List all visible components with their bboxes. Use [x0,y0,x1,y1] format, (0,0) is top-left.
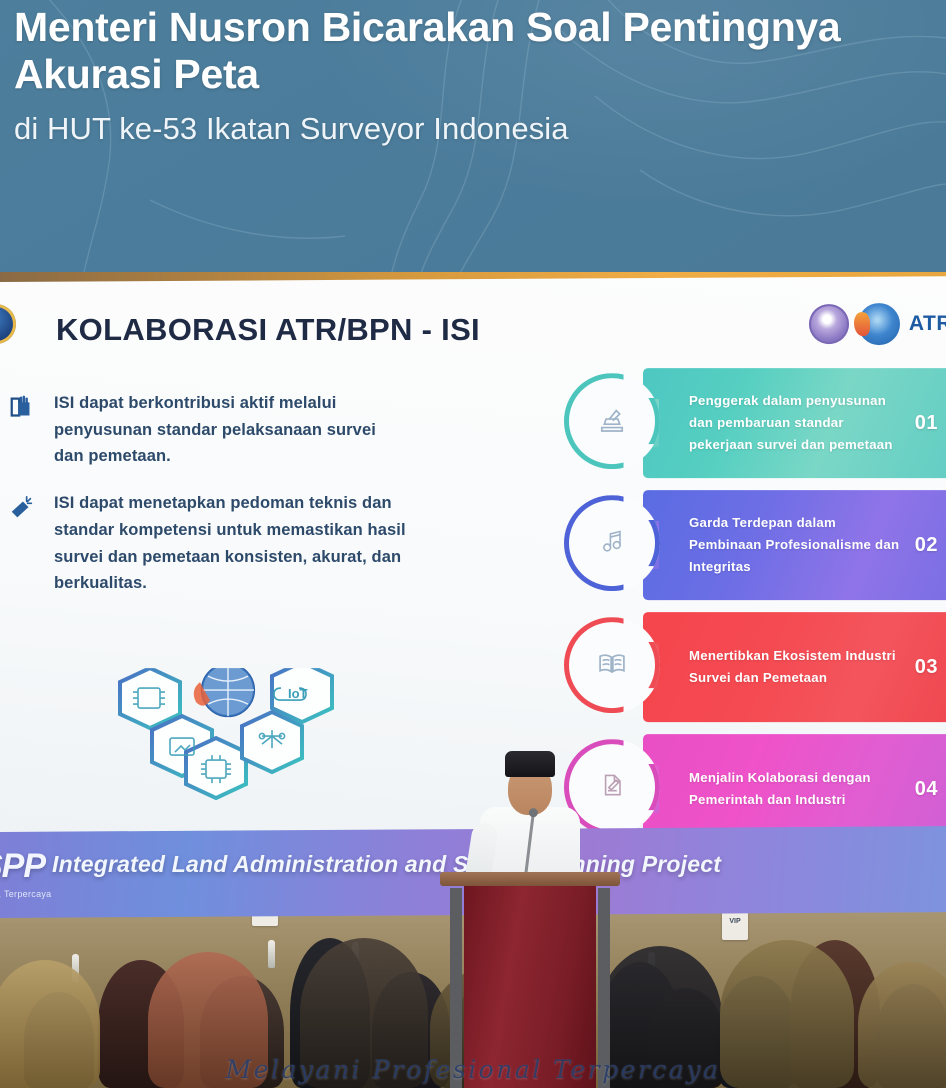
atr-wordmark: ATR [909,312,946,336]
ilaspp-logo-mark: SPP [0,847,45,886]
numbered-cards-list: Penggerak dalam penyusunan dan pembaruan… [558,368,946,856]
stamp-icon [595,402,629,441]
screenshot-root: Menteri Nusron Bicarakan Soal Pentingnya… [0,0,946,1088]
title-line-1: Menteri Nusron Bicarakan Soal Pentingnya [14,4,840,50]
bullet-text: ISI dapat berkontribusi aktif melalui pe… [54,390,408,470]
card-number-01: 01 [915,412,938,435]
bullet-item: ISI dapat berkontribusi aktif melalui pe… [8,390,408,470]
card-body-03: Menertibkan Ekosistem Industri Survei da… [643,612,946,722]
card-body-01: Penggerak dalam penyusunan dan pembaruan… [643,368,946,478]
card-row-02: Garda Terdepan dalam Pembinaan Profesion… [558,490,946,600]
slide-logo-group: ATR [809,303,946,345]
ilaspp-sub-tagline: ional, Terpercaya [0,889,51,899]
atr-bpn-globe-logo [858,303,900,345]
card-text-03: Menertibkan Ekosistem Industri Survei da… [689,645,905,689]
card-icon-ring-03 [564,617,660,713]
signed-document-icon [596,769,628,806]
open-book-icon [595,646,629,685]
card-row-03: Menertibkan Ekosistem Industri Survei da… [558,612,946,722]
event-tagline: Melayani Profesional Terpercaya [0,1055,946,1084]
article-header-banner: Menteri Nusron Bicarakan Soal Pentingnya… [0,0,946,272]
isi-seal-logo [809,304,849,344]
header-text-block: Menteri Nusron Bicarakan Soal Pentingnya… [14,4,946,147]
hand-document-icon [8,390,42,470]
slide-title: KOLABORASI ATR/BPN - ISI [56,312,480,348]
bullet-item: ISI dapat menetapkan pedoman teknis dan … [8,490,408,597]
card-row-01: Penggerak dalam penyusunan dan pembaruan… [558,368,946,478]
slide-bullet-list: ISI dapat berkontribusi aktif melalui pe… [8,390,408,617]
card-number-02: 02 [915,534,938,557]
bullet-text: ISI dapat menetapkan pedoman teknis dan … [54,490,408,597]
page-subtitle: di HUT ke-53 Ikatan Surveyor Indonesia [14,111,946,147]
page-title: Menteri Nusron Bicarakan Soal Pentingnya… [14,4,946,97]
music-note-icon [596,525,628,562]
water-bottle [268,940,275,968]
card-text-04: Menjalin Kolaborasi dengan Pemerintah da… [689,767,905,811]
hexagon-tech-diagram: IoT [76,668,376,843]
vip-card-label: VIP [722,918,748,925]
card-icon-ring-01 [564,373,660,469]
title-line-2: Akurasi Peta [14,51,946,98]
podium-top-surface [440,872,620,886]
card-text-01: Penggerak dalam penyusunan dan pembaruan… [689,390,905,457]
card-icon-ring-02 [564,495,660,591]
ilaspp-project-title: Integrated Land Administration and Spati… [52,851,721,878]
card-text-02: Garda Terdepan dalam Pembinaan Profesion… [689,512,905,579]
megaphone-icon [8,490,42,597]
speaker-peci-cap [505,751,555,777]
bpn-seal-logo [0,304,16,344]
event-photograph: VIP VIP [0,272,946,1088]
card-body-02: Garda Terdepan dalam Pembinaan Profesion… [643,490,946,600]
card-number-03: 03 [915,656,938,679]
card-number-04: 04 [915,778,938,801]
